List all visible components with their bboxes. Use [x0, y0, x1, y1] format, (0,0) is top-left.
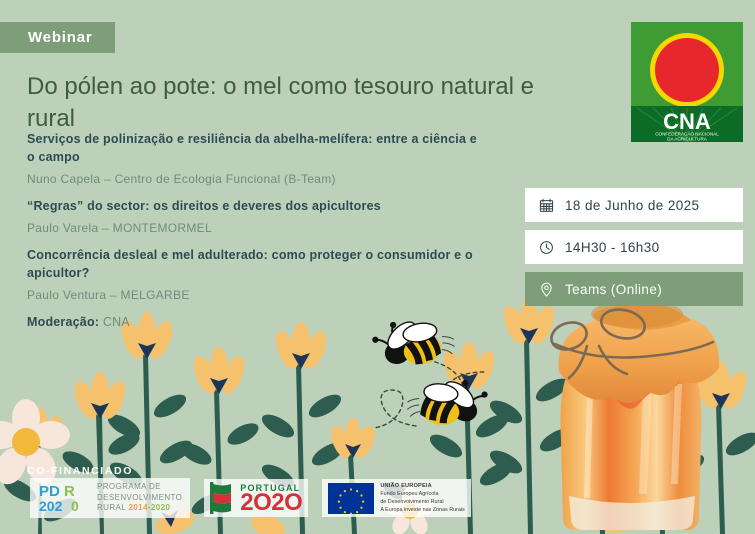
session-title: Serviços de polinização e resiliência da… — [27, 131, 487, 167]
pdr2020-description: PROGRAMA DE DESENVOLVIMENTO RURAL 2014-2… — [97, 482, 182, 514]
eu-funding-text: UNIÃO EUROPEIA Fundo Europeu Agrícola de… — [380, 482, 465, 515]
eu-line-1: Fundo Europeu Agrícola — [380, 490, 465, 498]
pdr-year-end: 2020 — [151, 503, 170, 512]
event-time-pill: 14H30 - 16h30 — [525, 230, 743, 264]
pdr2020-logo: PD R 202 0 PROGRAMA DE DESENVOLVIMENTO R… — [30, 478, 190, 518]
svg-text:202: 202 — [39, 498, 63, 514]
portugal-year: 2O2O — [240, 493, 302, 513]
moderation-label: Moderação: — [27, 315, 99, 329]
portugal2020-text: PORTUGAL 2O2O — [240, 483, 302, 513]
pdr-line-2: DESENVOLVIMENTO — [97, 493, 182, 504]
event-date-pill: 18 de Junho de 2025 — [525, 188, 743, 222]
session-title: “Regras” do sector: os direitos e devere… — [27, 198, 487, 216]
cna-logo: CNA CONFEDERAÇÃO NACIONAL DA AGRICULTURA — [631, 22, 743, 142]
webinar-badge: Webinar — [0, 22, 115, 53]
moderation-value: CNA — [103, 315, 130, 329]
pdr-line-1: PROGRAMA DE — [97, 482, 182, 493]
session-speaker: Paulo Ventura – MELGARBE — [27, 288, 487, 304]
funding-logos: PD R 202 0 PROGRAMA DE DESENVOLVIMENTO R… — [30, 478, 471, 518]
eu-line-2: de Desenvolvimento Rural — [380, 498, 465, 506]
event-location-pill: Teams (Online) — [525, 272, 743, 306]
session-item: “Regras” do sector: os direitos e devere… — [27, 198, 487, 236]
calendar-icon — [539, 198, 554, 213]
session-item: Concorrência desleal e mel adulterado: c… — [27, 247, 487, 303]
event-info-pills: 18 de Junho de 2025 14H30 - 16h30 Teams … — [525, 188, 743, 314]
bees-illustration — [370, 308, 515, 453]
honey-jar-illustration — [525, 284, 755, 534]
pdr2020-mark: PD R 202 0 — [38, 481, 90, 515]
portugal2020-logo: PORTUGAL 2O2O — [204, 479, 308, 517]
webinar-poster: Webinar Do pólen ao pote: o mel como tes… — [0, 0, 755, 534]
cna-logo-name: CNA — [663, 109, 711, 134]
session-title: Concorrência desleal e mel adulterado: c… — [27, 247, 487, 283]
session-speaker: Paulo Varela – MONTEMORMEL — [27, 221, 487, 237]
session-speaker: Nuno Capela – Centro de Ecologia Funcion… — [27, 172, 487, 188]
cofinanced-label: CO-FINANCIADO — [27, 465, 133, 477]
session-list: Serviços de polinização e resiliência da… — [27, 131, 487, 329]
event-location-text: Teams (Online) — [565, 282, 662, 297]
event-time-text: 14H30 - 16h30 — [565, 240, 660, 255]
session-item: Serviços de polinização e resiliência da… — [27, 131, 487, 187]
page-title: Do pólen ao pote: o mel como tesouro nat… — [27, 71, 557, 135]
eu-funding-logo: UNIÃO EUROPEIA Fundo Europeu Agrícola de… — [322, 479, 471, 518]
pdr-rural-word: RURAL — [97, 503, 128, 512]
eu-line-3: A Europa investe nas Zonas Rurais — [380, 506, 465, 514]
svg-text:0: 0 — [71, 498, 79, 514]
pdr-year-start: 2014 — [128, 503, 147, 512]
clock-icon — [539, 240, 554, 255]
portugal-flag-mark — [210, 481, 234, 515]
location-pin-icon — [539, 282, 554, 297]
pdr-line-3: RURAL 2014-2020 — [97, 503, 182, 514]
eu-heading: UNIÃO EUROPEIA — [380, 482, 465, 490]
eu-flag-icon — [328, 483, 374, 514]
moderation-line: Moderação: CNA — [27, 315, 487, 329]
cna-logo-subtitle-2: DA AGRICULTURA — [667, 137, 708, 142]
event-date-text: 18 de Junho de 2025 — [565, 198, 699, 213]
